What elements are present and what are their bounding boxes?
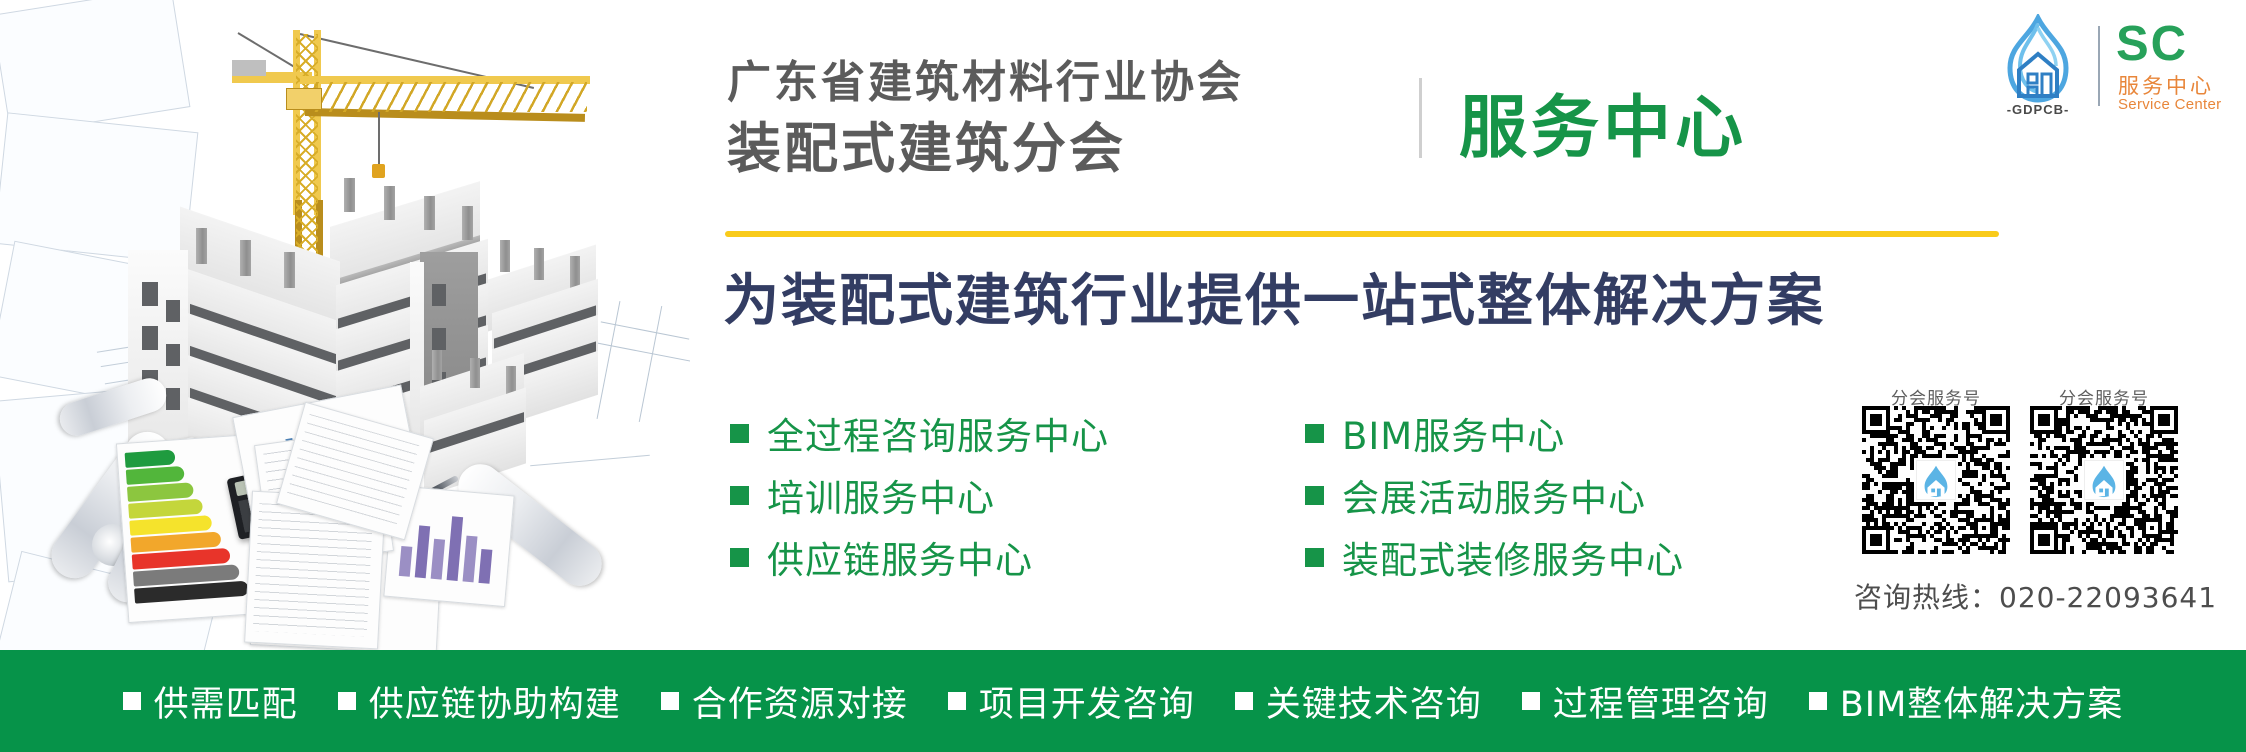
footer-items: 供需匹配 供应链协助构建 合作资源对接 项目开发咨询 关键技术咨询 过程管理咨询 <box>123 676 2124 727</box>
footer-item-label: 供需匹配 <box>154 676 298 727</box>
service-center-title: 服务中心 <box>1459 72 1747 171</box>
crane-hook <box>372 164 385 178</box>
white-square-bullet-icon <box>1235 692 1253 710</box>
facade-window <box>142 326 158 350</box>
crane-operator-cab <box>286 88 322 110</box>
blueprint-linework <box>597 301 621 419</box>
footer-item-label: 项目开发咨询 <box>979 676 1195 727</box>
hotline-text: 咨询热线：020-22093641 <box>1854 576 2217 616</box>
building-column <box>384 186 395 220</box>
hero-construction-render <box>0 0 690 650</box>
blueprint-sheet <box>0 112 198 263</box>
white-square-bullet-icon <box>338 692 356 710</box>
service-item[interactable]: 供应链服务中心 <box>730 526 1109 588</box>
service-item-label: 装配式装修服务中心 <box>1342 530 1684 584</box>
white-square-bullet-icon <box>123 692 141 710</box>
blueprint-linework <box>639 306 662 422</box>
footer-item[interactable]: 合作资源对接 <box>661 676 908 727</box>
footer-keyword-bar: 供需匹配 供应链协助构建 合作资源对接 项目开发咨询 关键技术咨询 过程管理咨询 <box>0 650 2246 752</box>
service-item-label: 培训服务中心 <box>767 468 995 522</box>
logo-sc-text: SC <box>2116 20 2188 69</box>
qr-center-flame-house-icon <box>2084 460 2124 500</box>
footer-item-label: 关键技术咨询 <box>1266 676 1482 727</box>
footer-item-label: 过程管理咨询 <box>1553 676 1769 727</box>
green-square-bullet-icon <box>730 424 749 443</box>
building-column <box>284 252 295 288</box>
crane-counterweight <box>232 60 266 76</box>
logo-mark-caption: -GDPCB- <box>1988 102 2088 117</box>
building-column <box>424 196 435 230</box>
chart-bar <box>415 525 430 578</box>
green-square-bullet-icon <box>1305 548 1324 567</box>
green-square-bullet-icon <box>730 548 749 567</box>
facade-window <box>432 328 446 350</box>
service-item-label: 会展活动服务中心 <box>1342 468 1646 522</box>
chart-bar <box>399 546 413 577</box>
building-column <box>196 228 207 264</box>
footer-item-label: 合作资源对接 <box>692 676 908 727</box>
energy-bar-B <box>126 466 185 485</box>
service-item-label: 全过程咨询服务中心 <box>767 406 1109 460</box>
building-column <box>534 248 544 280</box>
building-column <box>500 240 510 272</box>
association-name-line1: 广东省建筑材料行业协会 <box>727 46 1244 110</box>
white-square-bullet-icon <box>661 692 679 710</box>
facade-window <box>166 344 180 366</box>
building-column <box>344 178 355 212</box>
building-column <box>432 350 442 380</box>
facade-window <box>432 284 446 306</box>
footer-item-label: 供应链协助构建 <box>369 676 621 727</box>
building-column <box>470 358 480 388</box>
qr-center-flame-house-icon <box>1916 460 1956 500</box>
building-column <box>240 240 251 276</box>
white-square-bullet-icon <box>1809 692 1827 710</box>
crane-jib-lattice <box>305 82 587 112</box>
title-vertical-divider <box>1419 78 1422 158</box>
chart-bar <box>478 549 492 584</box>
blueprint-linework <box>530 455 650 466</box>
chart-bar <box>447 516 464 581</box>
service-item-label: BIM服务中心 <box>1342 406 1565 460</box>
building-column <box>462 206 473 240</box>
qr-code-2[interactable] <box>2030 406 2178 554</box>
green-square-bullet-icon <box>730 486 749 505</box>
service-item-label: 供应链服务中心 <box>767 530 1033 584</box>
service-item[interactable]: 装配式装修服务中心 <box>1305 526 1684 588</box>
facade-window <box>142 282 158 306</box>
association-name-line2: 装配式建筑分会 <box>727 104 1126 183</box>
service-item[interactable]: 全过程咨询服务中心 <box>730 402 1109 464</box>
qr-contact-block: 分会服务号 分会服务号 <box>1862 384 2230 584</box>
green-square-bullet-icon <box>1305 486 1324 505</box>
white-square-bullet-icon <box>948 692 966 710</box>
footer-item[interactable]: 供需匹配 <box>123 676 298 727</box>
service-item[interactable]: BIM服务中心 <box>1305 402 1684 464</box>
energy-bar-A <box>125 449 176 467</box>
logo-sc-english: Service Center <box>2118 96 2221 113</box>
service-item[interactable]: 会展活动服务中心 <box>1305 464 1684 526</box>
footer-item-label: BIM整体解决方案 <box>1840 676 2124 727</box>
chart-bar <box>463 536 478 583</box>
facade-window <box>166 300 180 322</box>
qr-code-1[interactable] <box>1862 406 2010 554</box>
footer-item[interactable]: 供应链协助构建 <box>338 676 621 727</box>
crane-hoist-line <box>378 112 380 166</box>
service-list-left: 全过程咨询服务中心 培训服务中心 供应链服务中心 <box>730 402 1109 588</box>
headline-tagline: 为装配式建筑行业提供一站式整体解决方案 <box>723 256 1825 337</box>
footer-item[interactable]: 关键技术咨询 <box>1235 676 1482 727</box>
yellow-divider-rule <box>725 231 1999 237</box>
logo-vertical-divider <box>2098 26 2100 106</box>
white-square-bullet-icon <box>1522 692 1540 710</box>
promotional-banner: 广东省建筑材料行业协会 装配式建筑分会 服务中心 为装配式建筑行业提供一站式整体… <box>0 0 2246 752</box>
footer-item[interactable]: 过程管理咨询 <box>1522 676 1769 727</box>
facade-window <box>166 388 180 410</box>
green-square-bullet-icon <box>1305 424 1324 443</box>
service-item[interactable]: 培训服务中心 <box>730 464 1109 526</box>
footer-item[interactable]: 项目开发咨询 <box>948 676 1195 727</box>
chart-bar <box>431 539 445 580</box>
footer-item[interactable]: BIM整体解决方案 <box>1809 676 2124 727</box>
building-column <box>570 256 580 288</box>
service-list-right: BIM服务中心 会展活动服务中心 装配式装修服务中心 <box>1305 402 1684 588</box>
logo-lockup[interactable]: -GDPCB- SC 服务中心 Service Center <box>1988 14 2234 118</box>
